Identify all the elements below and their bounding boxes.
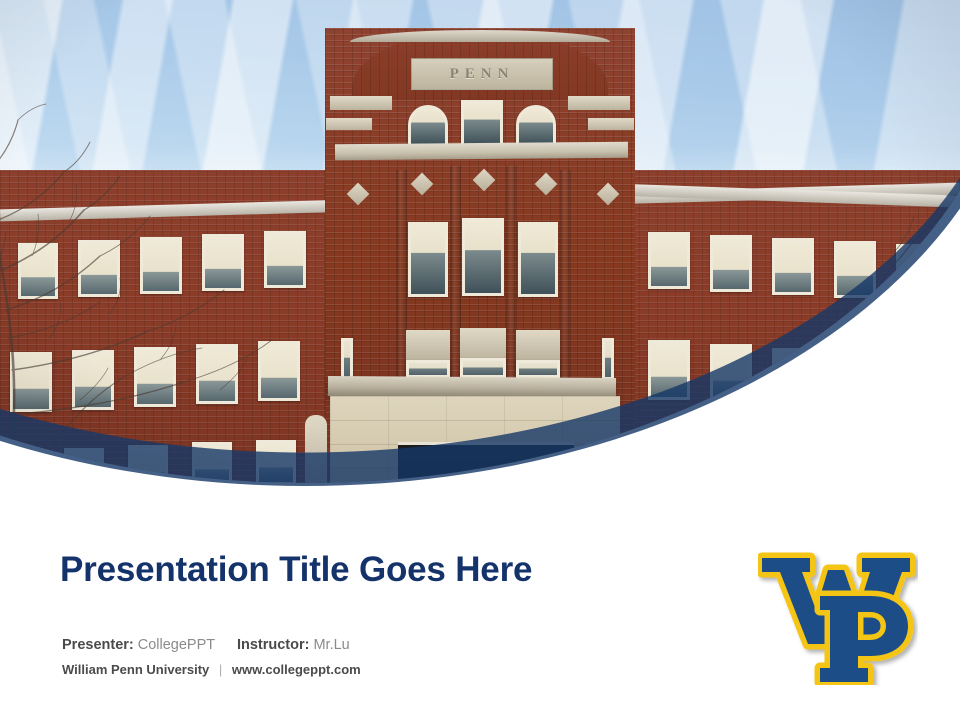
meta-separator: | xyxy=(213,662,228,677)
presenter-line: Presenter: CollegePPT Instructor: Mr.Lu xyxy=(62,637,350,653)
instructor-value: Mr.Lu xyxy=(313,637,349,653)
presenter-label: Presenter: xyxy=(62,637,134,653)
presentation-slide: PENN xyxy=(0,0,960,720)
blue-curve-band xyxy=(0,0,960,500)
window xyxy=(834,352,876,412)
website-url[interactable]: www.collegeppt.com xyxy=(232,662,361,677)
window xyxy=(896,356,938,416)
instructor-label: Instructor: xyxy=(237,637,310,653)
university-name: William Penn University xyxy=(62,662,209,677)
wp-logo xyxy=(758,540,918,685)
affiliation-line: William Penn University | www.collegeppt… xyxy=(62,662,361,677)
page-title: Presentation Title Goes Here xyxy=(60,550,532,590)
presenter-value: CollegePPT xyxy=(138,637,215,653)
